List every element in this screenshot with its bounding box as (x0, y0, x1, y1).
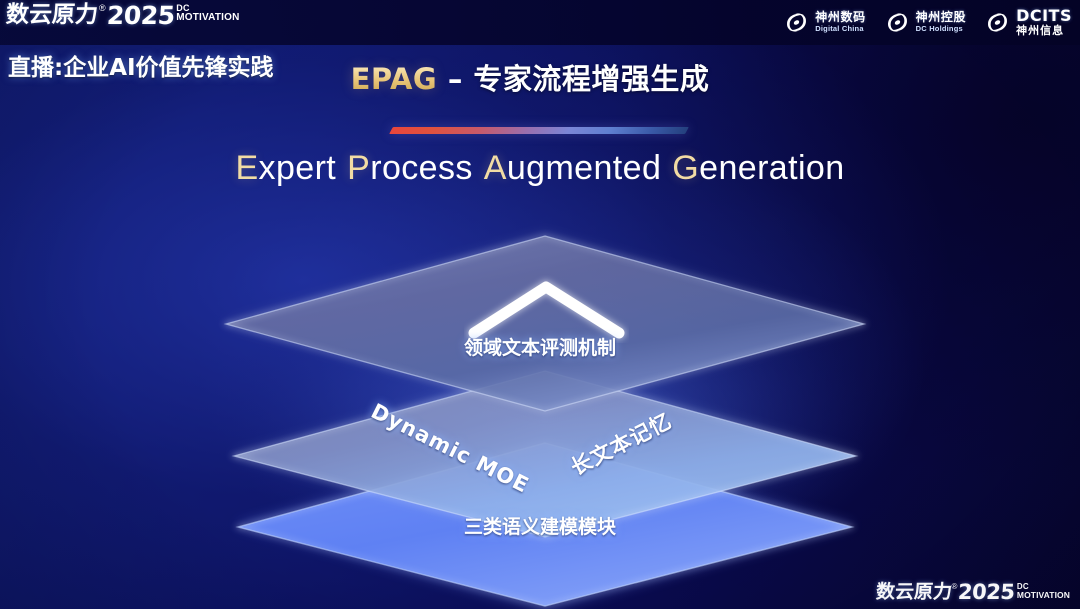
brand-registered-mark: ® (99, 3, 106, 14)
brand-logo: 数云原力 ® 2025 DC MOTIVATION (6, 3, 240, 28)
partner-text-digital-china: 神州数码 Digital China (815, 11, 865, 33)
layer-top-label: 领域文本评测机制 (464, 333, 616, 360)
partner-cn-dcits: DCITS (1016, 8, 1072, 24)
slide-canvas: 领域文本评测机制 Dynamic MOE 长文本记忆 三类语义建模模块 数云原力… (0, 0, 1080, 609)
subtitle-cap-g: G (672, 149, 699, 187)
layer-bottom-label: 三类语义建模模块 (464, 512, 616, 539)
brand-motivation-text: MOTIVATION (176, 13, 239, 22)
subtitle-cap-a: A (484, 149, 507, 187)
title-dash: – (437, 62, 473, 96)
gradient-divider (389, 127, 689, 134)
subtitle-word-generation: Generation (672, 149, 844, 187)
layer-middle-label-right: 长文本记忆 (565, 405, 677, 482)
subtitle-rest-augmented: ugmented (507, 149, 661, 187)
stack-glow (215, 255, 875, 585)
partner-cn-dc-holdings: 神州控股 (916, 11, 966, 23)
partner-logo-digital-china: 神州数码 Digital China (783, 9, 865, 36)
slide-title: EPAG – 专家流程增强生成 (351, 56, 710, 98)
partner-cn-digital-china: 神州数码 (815, 11, 865, 23)
partner-logo-group: 神州数码 Digital China 神州控股 DC Holdings (783, 4, 1072, 40)
footer-brand-name-cn: 数云原力 (875, 582, 952, 603)
subtitle-rest-process: rocess (370, 149, 473, 187)
live-broadcast-label: 直播:企业AI价值先锋实践 (8, 48, 274, 82)
slide-subtitle: ExpertProcessAugmentedGeneration (0, 149, 1080, 188)
partner-en-dc-holdings: DC Holdings (916, 25, 966, 33)
partner-en-dcits: 神州信息 (1016, 26, 1072, 37)
title-chinese: 专家流程增强生成 (473, 62, 709, 96)
partner-text-dc-holdings: 神州控股 DC Holdings (916, 11, 966, 33)
partner-logo-dc-holdings: 神州控股 DC Holdings (884, 9, 966, 36)
brand-name-cn: 数云原力 (5, 3, 99, 28)
subtitle-rest-generation: eneration (699, 149, 844, 187)
footer-brand-subtag: DC MOTIVATION (1017, 583, 1070, 599)
subtitle-word-expert: Expert (235, 149, 336, 187)
swoosh-icon (984, 9, 1011, 36)
brand-year: 2025 (106, 3, 175, 28)
partner-text-dcits: DCITS 神州信息 (1016, 8, 1072, 37)
subtitle-word-augmented: Augmented (484, 149, 662, 187)
brand-subtag: DC MOTIVATION (176, 4, 239, 22)
subtitle-rest-expert: xpert (259, 149, 337, 187)
layer-middle (230, 368, 860, 540)
title-acronym: EPAG (351, 62, 438, 96)
subtitle-cap-p: P (347, 149, 370, 187)
footer-motivation-text: MOTIVATION (1017, 591, 1070, 599)
subtitle-cap-e: E (235, 149, 258, 187)
title-divider-wrap (0, 121, 1080, 139)
footer-brand-year: 2025 (958, 582, 1016, 603)
layer-top (222, 233, 868, 413)
swoosh-icon (884, 9, 911, 36)
swoosh-icon (783, 9, 810, 36)
partner-en-digital-china: Digital China (815, 25, 865, 33)
layer-middle-label-left: Dynamic MOE (367, 399, 533, 498)
partner-logo-dcits: DCITS 神州信息 (984, 8, 1072, 37)
footer-brand-logo: 数云原力 ® 2025 DC MOTIVATION (876, 582, 1070, 603)
layer-bottom (235, 440, 855, 609)
subtitle-word-process: Process (347, 149, 473, 187)
